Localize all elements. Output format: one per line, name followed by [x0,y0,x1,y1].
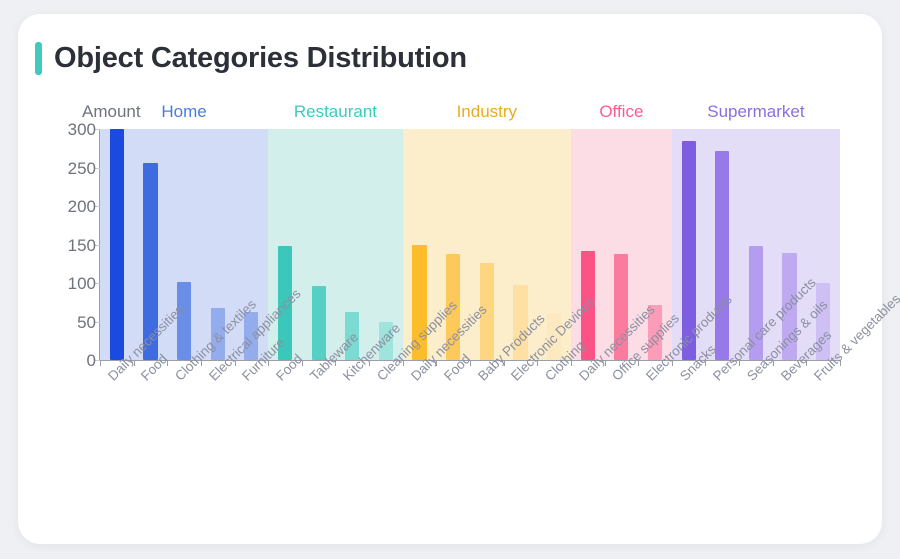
group-label-supermarket: Supermarket [672,102,840,122]
bar[interactable] [715,151,729,360]
y-tick-label: 300 [36,120,96,140]
x-tick-mark [100,360,101,366]
group-label-restaurant: Restaurant [268,102,403,122]
card-header: Object Categories Distribution [35,42,467,75]
y-tick-label: 50 [36,313,96,333]
bar[interactable] [110,129,124,360]
chart-card: Object Categories Distribution Amount Ho… [18,14,882,544]
page-title: Object Categories Distribution [54,42,467,75]
bar[interactable] [177,282,191,360]
bar-chart-plot: HomeRestaurantIndustryOfficeSupermarket … [100,129,840,360]
bar[interactable] [312,286,326,360]
y-tick-label: 250 [36,159,96,179]
group-label-office: Office [571,102,672,122]
group-label-home: Home [100,102,268,122]
y-tick-label: 100 [36,274,96,294]
y-tick-label: 150 [36,236,96,256]
y-tick-label: 200 [36,197,96,217]
group-label-industry: Industry [403,102,571,122]
title-accent-bar [35,42,42,75]
y-tick-label: 0 [36,351,96,371]
screenshot-root: Object Categories Distribution Amount Ho… [0,0,900,559]
